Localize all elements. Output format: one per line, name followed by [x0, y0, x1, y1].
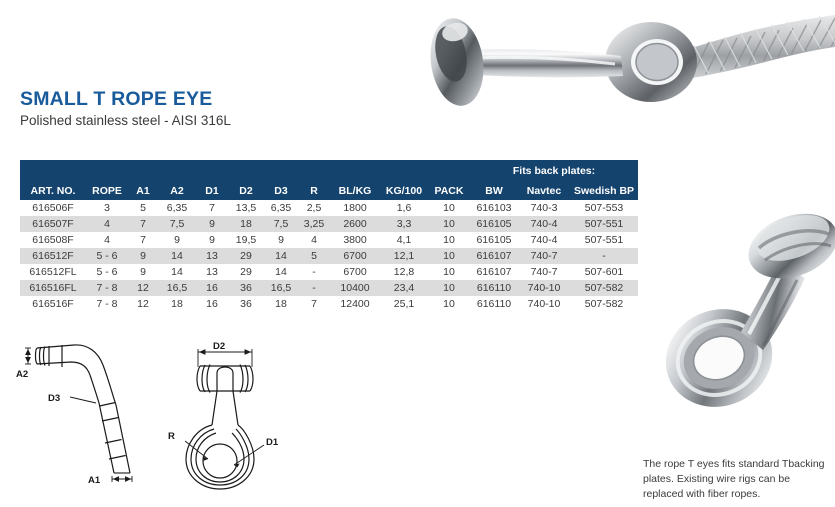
cell-pack: 10 [428, 280, 470, 296]
group-header-fits-back-plates: Fits back plates: [470, 160, 638, 177]
cell-d3: 9 [264, 232, 298, 248]
technical-drawing-front-view: D2 [160, 333, 315, 501]
cell-a1: 12 [128, 280, 158, 296]
cell-r: 4 [298, 232, 330, 248]
hero-product-photo [395, 2, 835, 124]
cell-navtec: 740-7 [518, 264, 570, 280]
cell-pack: 10 [428, 232, 470, 248]
drawing-label-a1: A1 [88, 475, 101, 486]
cell-navtec: 740-10 [518, 280, 570, 296]
cell-rope: 3 [86, 200, 128, 216]
cell-bw: 616107 [470, 264, 518, 280]
cell-swedish-bp: 507-551 [570, 232, 638, 248]
cell-a2: 9 [158, 232, 196, 248]
side-product-photo [645, 186, 835, 448]
spec-table: Fits back plates: ART. NO. ROPE A1 A2 D1… [20, 160, 638, 312]
cell-art-no: 616512F [20, 248, 86, 264]
cell-kg-100: 12,1 [380, 248, 428, 264]
table-row: 616508F479919,59438004,110616105740-4507… [20, 232, 638, 248]
cell-a1: 7 [128, 232, 158, 248]
technical-drawing-side-view: A2 D3 A1 [8, 333, 168, 495]
drawing-label-r: R [168, 431, 175, 442]
cell-pack: 10 [428, 200, 470, 216]
col-header-r: R [298, 177, 330, 200]
cell-r: 5 [298, 248, 330, 264]
cell-kg-100: 3,3 [380, 216, 428, 232]
col-header-bl-kg: BL/KG [330, 177, 380, 200]
cell-swedish-bp: 507-582 [570, 280, 638, 296]
col-header-swedish-bp: Swedish BP [570, 177, 638, 200]
cell-bl-kg: 6700 [330, 248, 380, 264]
cell-bl-kg: 6700 [330, 264, 380, 280]
cell-d3: 6,35 [264, 200, 298, 216]
col-header-a1: A1 [128, 177, 158, 200]
cell-rope: 4 [86, 216, 128, 232]
table-header-row: ART. NO. ROPE A1 A2 D1 D2 D3 R BL/KG KG/… [20, 177, 638, 200]
cell-swedish-bp: 507-582 [570, 296, 638, 312]
table-row: 616506F356,35713,56,352,518001,610616103… [20, 200, 638, 216]
col-header-d3: D3 [264, 177, 298, 200]
cell-art-no: 616512FL [20, 264, 86, 280]
cell-d3: 14 [264, 248, 298, 264]
drawing-label-d1: D1 [266, 437, 279, 448]
spec-table-body: 616506F356,35713,56,352,518001,610616103… [20, 200, 638, 312]
group-header-spacer [20, 160, 470, 177]
cell-a2: 14 [158, 248, 196, 264]
table-row: 616516FL7 - 81216,5163616,5-1040023,4106… [20, 280, 638, 296]
cell-d3: 16,5 [264, 280, 298, 296]
spec-table-container: Fits back plates: ART. NO. ROPE A1 A2 D1… [20, 160, 638, 312]
cell-rope: 7 - 8 [86, 280, 128, 296]
spec-table-head: Fits back plates: ART. NO. ROPE A1 A2 D1… [20, 160, 638, 200]
cell-r: 7 [298, 296, 330, 312]
cell-d2: 36 [228, 280, 264, 296]
cell-pack: 10 [428, 216, 470, 232]
page-title: SMALL T ROPE EYE [20, 88, 360, 110]
table-row: 616507F477,59187,53,2526003,310616105740… [20, 216, 638, 232]
cell-navtec: 740-3 [518, 200, 570, 216]
cell-art-no: 616516FL [20, 280, 86, 296]
cell-swedish-bp: 507-601 [570, 264, 638, 280]
cell-bl-kg: 10400 [330, 280, 380, 296]
cell-r: 3,25 [298, 216, 330, 232]
cell-rope: 7 - 8 [86, 296, 128, 312]
col-header-bw: BW [470, 177, 518, 200]
cell-d1: 9 [196, 232, 228, 248]
cell-art-no: 616507F [20, 216, 86, 232]
cell-art-no: 616508F [20, 232, 86, 248]
cell-bw: 616110 [470, 280, 518, 296]
cell-d2: 18 [228, 216, 264, 232]
cell-bw: 616103 [470, 200, 518, 216]
cell-pack: 10 [428, 248, 470, 264]
cell-d2: 19,5 [228, 232, 264, 248]
col-header-navtec: Navtec [518, 177, 570, 200]
cell-a1: 9 [128, 264, 158, 280]
cell-kg-100: 1,6 [380, 200, 428, 216]
cell-bl-kg: 2600 [330, 216, 380, 232]
cell-rope: 5 - 6 [86, 264, 128, 280]
drawing-label-d3: D3 [48, 393, 60, 404]
cell-d3: 7,5 [264, 216, 298, 232]
cell-swedish-bp: 507-551 [570, 216, 638, 232]
cell-d2: 13,5 [228, 200, 264, 216]
cell-rope: 5 - 6 [86, 248, 128, 264]
cell-pack: 10 [428, 296, 470, 312]
cell-a2: 6,35 [158, 200, 196, 216]
cell-navtec: 740-4 [518, 232, 570, 248]
cell-d2: 29 [228, 248, 264, 264]
cell-d1: 13 [196, 248, 228, 264]
cell-a2: 16,5 [158, 280, 196, 296]
cell-d1: 16 [196, 280, 228, 296]
cell-bw: 616105 [470, 216, 518, 232]
cell-a1: 9 [128, 248, 158, 264]
catalog-page: SMALL T ROPE EYE Polished stainless stee… [0, 0, 835, 507]
cell-navtec: 740-7 [518, 248, 570, 264]
cell-d1: 13 [196, 264, 228, 280]
page-subtitle: Polished stainless steel - AISI 316L [20, 113, 360, 129]
cell-r: - [298, 280, 330, 296]
cell-d1: 16 [196, 296, 228, 312]
cell-r: - [298, 264, 330, 280]
cell-bl-kg: 12400 [330, 296, 380, 312]
cell-kg-100: 25,1 [380, 296, 428, 312]
cell-d1: 9 [196, 216, 228, 232]
cell-swedish-bp: - [570, 248, 638, 264]
cell-pack: 10 [428, 264, 470, 280]
cell-d2: 36 [228, 296, 264, 312]
cell-d1: 7 [196, 200, 228, 216]
cell-bw: 616110 [470, 296, 518, 312]
cell-navtec: 740-10 [518, 296, 570, 312]
col-header-kg-100: KG/100 [380, 177, 428, 200]
cell-r: 2,5 [298, 200, 330, 216]
cell-swedish-bp: 507-553 [570, 200, 638, 216]
drawing-label-d2: D2 [213, 341, 225, 352]
cell-a2: 7,5 [158, 216, 196, 232]
table-row: 616512FL5 - 6914132914-670012,8106161077… [20, 264, 638, 280]
cell-navtec: 740-4 [518, 216, 570, 232]
cell-bw: 616105 [470, 232, 518, 248]
title-block: SMALL T ROPE EYE Polished stainless stee… [20, 88, 360, 130]
cell-kg-100: 23,4 [380, 280, 428, 296]
cell-bw: 616107 [470, 248, 518, 264]
cell-kg-100: 4,1 [380, 232, 428, 248]
cell-a1: 12 [128, 296, 158, 312]
col-header-d1: D1 [196, 177, 228, 200]
side-photo-caption: The rope T eyes fits standard Tbacking p… [643, 457, 833, 502]
cell-kg-100: 12,8 [380, 264, 428, 280]
table-group-header-row: Fits back plates: [20, 160, 638, 177]
col-header-art-no: ART. NO. [20, 177, 86, 200]
table-row: 616512F5 - 69141329145670012,11061610774… [20, 248, 638, 264]
cell-a1: 5 [128, 200, 158, 216]
col-header-rope: ROPE [86, 177, 128, 200]
cell-a1: 7 [128, 216, 158, 232]
cell-art-no: 616506F [20, 200, 86, 216]
cell-d3: 18 [264, 296, 298, 312]
cell-d3: 14 [264, 264, 298, 280]
cell-rope: 4 [86, 232, 128, 248]
cell-a2: 14 [158, 264, 196, 280]
cell-bl-kg: 3800 [330, 232, 380, 248]
cell-bl-kg: 1800 [330, 200, 380, 216]
col-header-pack: PACK [428, 177, 470, 200]
cell-a2: 18 [158, 296, 196, 312]
cell-d2: 29 [228, 264, 264, 280]
col-header-d2: D2 [228, 177, 264, 200]
drawing-label-a2: A2 [16, 369, 28, 380]
cell-art-no: 616516F [20, 296, 86, 312]
col-header-a2: A2 [158, 177, 196, 200]
table-row: 616516F7 - 8121816361871240025,110616110… [20, 296, 638, 312]
